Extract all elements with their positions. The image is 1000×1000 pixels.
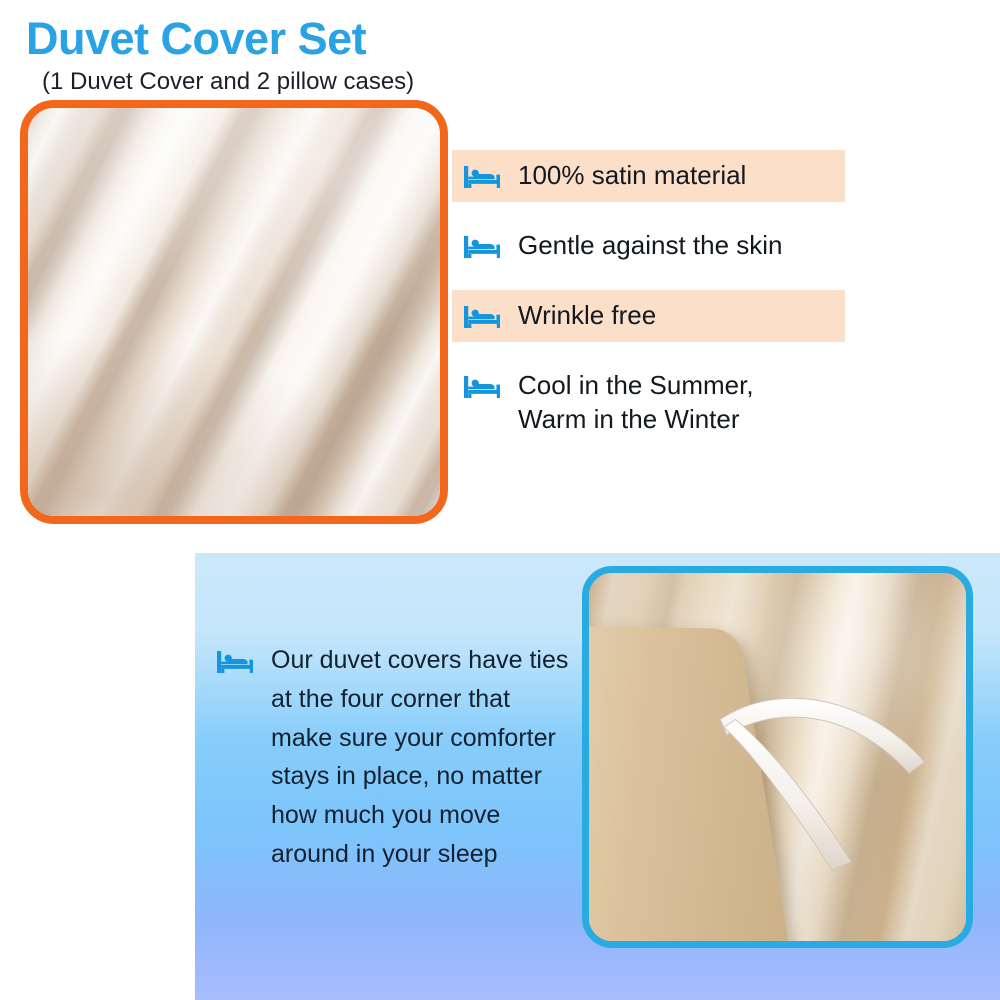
feature-item: Wrinkle free [452, 290, 845, 342]
duvet-ties-description: Our duvet covers have ties at the four c… [217, 641, 577, 874]
satin-fabric-photo [20, 100, 448, 524]
feature-label: Gentle against the skin [518, 228, 783, 262]
bed-icon [217, 649, 257, 675]
page-subtitle: (1 Duvet Cover and 2 pillow cases) [42, 70, 414, 94]
feature-list: 100% satin material Gentle against the s… [452, 150, 845, 445]
duvet-tie-photo [582, 566, 973, 948]
feature-item: 100% satin material [452, 150, 845, 202]
ribbon-ties [589, 573, 966, 941]
feature-label: Cool in the Summer, Warm in the Winter [518, 368, 754, 437]
bed-icon [464, 374, 504, 400]
feature-label: 100% satin material [518, 158, 746, 192]
feature-item: Cool in the Summer, Warm in the Winter [452, 360, 845, 445]
page-title: Duvet Cover Set [26, 16, 366, 61]
feature-label: Wrinkle free [518, 298, 656, 332]
bed-icon [464, 164, 504, 190]
bed-icon [464, 234, 504, 260]
duvet-ties-label: Our duvet covers have ties at the four c… [271, 641, 577, 874]
feature-item: Gentle against the skin [452, 220, 845, 272]
bed-icon [464, 304, 504, 330]
satin-fabric-texture [28, 108, 440, 516]
